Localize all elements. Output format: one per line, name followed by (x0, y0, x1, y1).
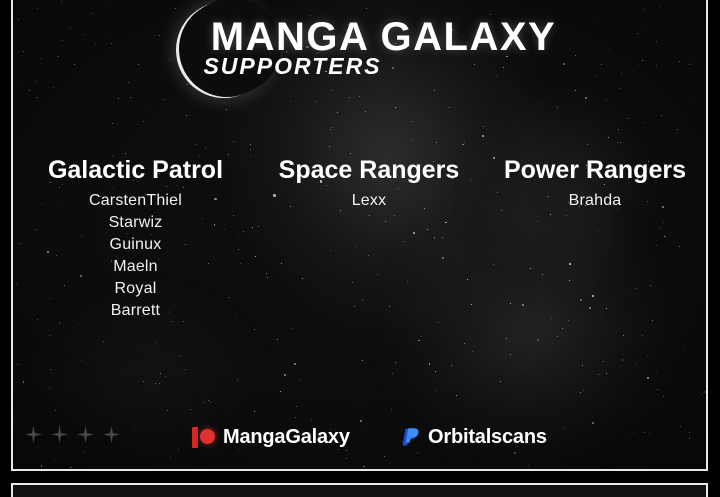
tier-title: Power Rangers (480, 155, 708, 185)
tier-member-list: Brahda (480, 190, 708, 212)
list-item: Guinux (13, 234, 258, 256)
secondary-panel (11, 483, 708, 497)
mangagalaxy-logo-icon (191, 426, 217, 448)
page-title: MANGA GALAXY (13, 16, 708, 58)
footer-bar: MangaGalaxy Orbitalscans (13, 423, 708, 453)
tier-columns: Galactic Patrol CarstenThiel Starwiz Gui… (13, 155, 708, 322)
list-item: CarstenThiel (13, 190, 258, 212)
page-subtitle: SUPPORTERS (13, 54, 708, 78)
tier-member-list: Lexx (258, 190, 480, 212)
supporters-poster: MANGA GALAXY SUPPORTERS Galactic Patrol … (0, 0, 720, 497)
list-item: Royal (13, 278, 258, 300)
tier-column-galactic-patrol: Galactic Patrol CarstenThiel Starwiz Gui… (13, 155, 258, 322)
sparkle-icon (25, 426, 42, 443)
sparkle-icon (51, 426, 68, 443)
sparkle-icon (103, 426, 120, 443)
list-item: Maeln (13, 256, 258, 278)
tier-title: Galactic Patrol (13, 155, 258, 185)
brand-orbitalscans[interactable]: Orbitalscans (398, 425, 547, 449)
orbitalscans-logo-icon (398, 425, 422, 449)
title-block: MANGA GALAXY SUPPORTERS (13, 16, 708, 78)
tier-column-power-rangers: Power Rangers Brahda (480, 155, 708, 322)
list-item: Brahda (480, 190, 708, 212)
list-item: Barrett (13, 300, 258, 322)
tier-member-list: CarstenThiel Starwiz Guinux Maeln Royal … (13, 190, 258, 322)
list-item: Lexx (258, 190, 480, 212)
sparkle-icon (77, 426, 94, 443)
list-item: Starwiz (13, 212, 258, 234)
tier-column-space-rangers: Space Rangers Lexx (258, 155, 480, 322)
brand-label: MangaGalaxy (223, 425, 350, 449)
supporters-panel: MANGA GALAXY SUPPORTERS Galactic Patrol … (11, 0, 708, 471)
sparkle-decorations (25, 426, 120, 443)
tier-title: Space Rangers (258, 155, 480, 185)
brand-mangagalaxy[interactable]: MangaGalaxy (191, 425, 350, 449)
brand-label: Orbitalscans (428, 425, 547, 449)
